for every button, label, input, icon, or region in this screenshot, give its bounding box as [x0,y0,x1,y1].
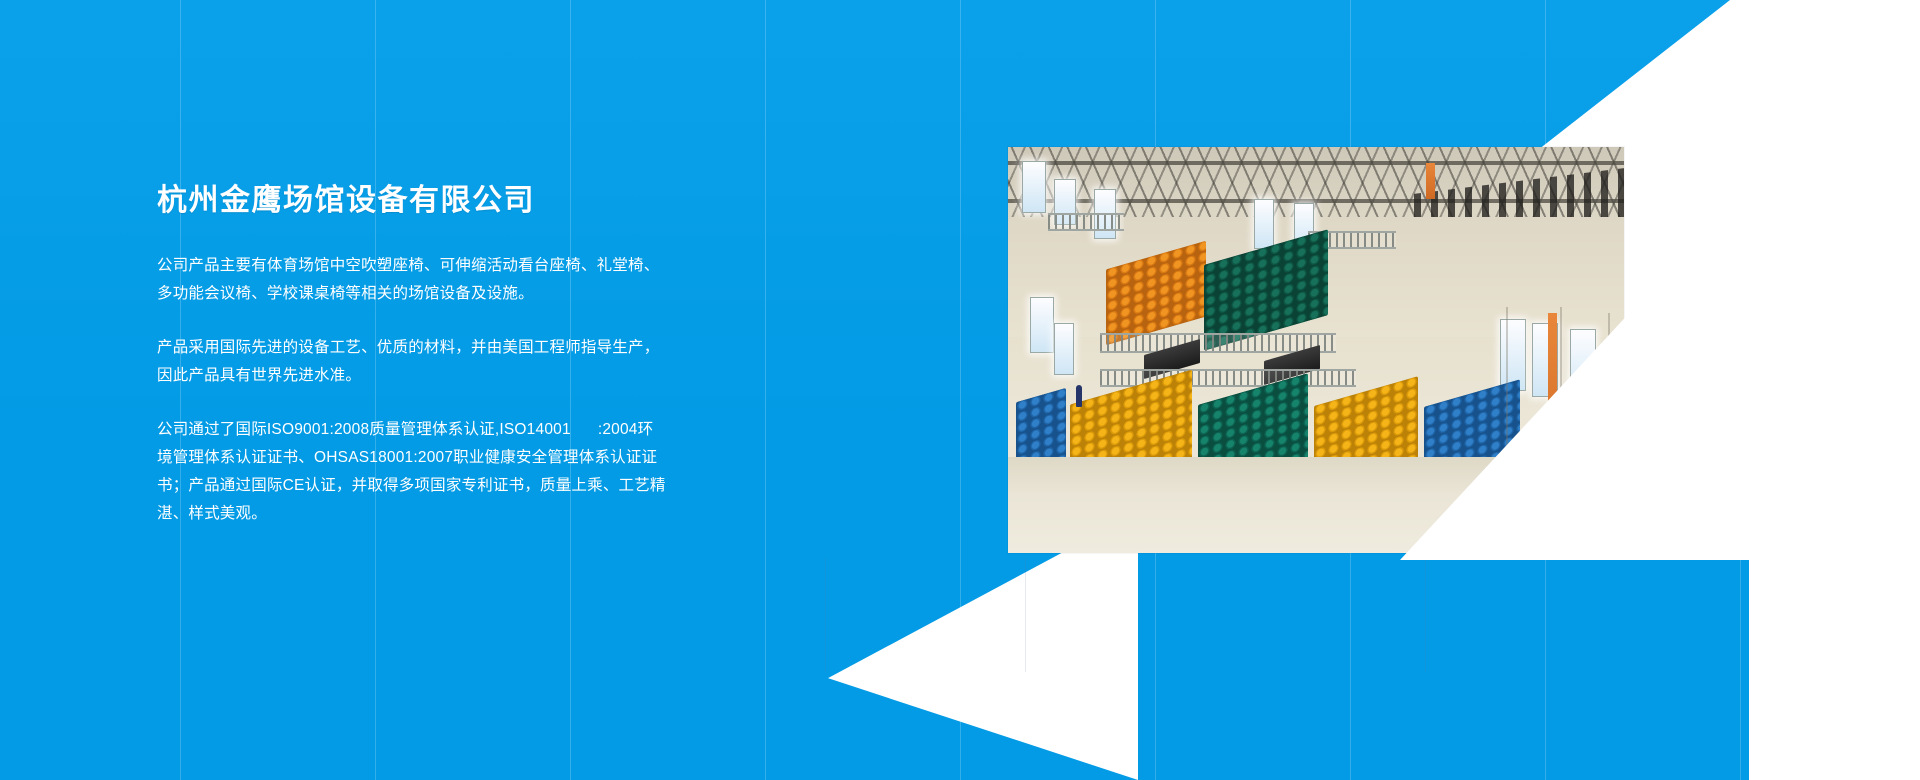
promo-banner: 杭州金鹰场馆设备有限公司 公司产品主要有体育场馆中空吹塑座椅、可伸缩活动看台座椅… [0,0,1920,780]
intro-paragraph-certifications: 公司通过了国际ISO9001:2008质量管理体系认证,ISO14001 :20… [157,416,667,528]
balcony-railing [1048,213,1124,231]
window [1054,323,1074,375]
footer-divider [825,558,826,672]
intro-paragraph-technology: 产品采用国际先进的设备工艺、优质的材料，并由美国工程师指导生产，因此产品具有世界… [157,334,667,390]
company-intro-block: 杭州金鹰场馆设备有限公司 公司产品主要有体育场馆中空吹塑座椅、可伸缩活动看台座椅… [157,182,667,528]
footer-divider [1425,558,1426,672]
window [1022,161,1046,213]
company-title: 杭州金鹰场馆设备有限公司 [157,182,667,220]
truss-beam [1008,161,1624,165]
column [1426,163,1435,199]
window [1254,199,1274,249]
window [1030,297,1054,353]
person [1076,385,1082,407]
footer-divider [1025,558,1026,672]
intro-paragraph-products: 公司产品主要有体育场馆中空吹塑座椅、可伸缩活动看台座椅、礼堂椅、多功能会议椅、学… [157,252,667,308]
